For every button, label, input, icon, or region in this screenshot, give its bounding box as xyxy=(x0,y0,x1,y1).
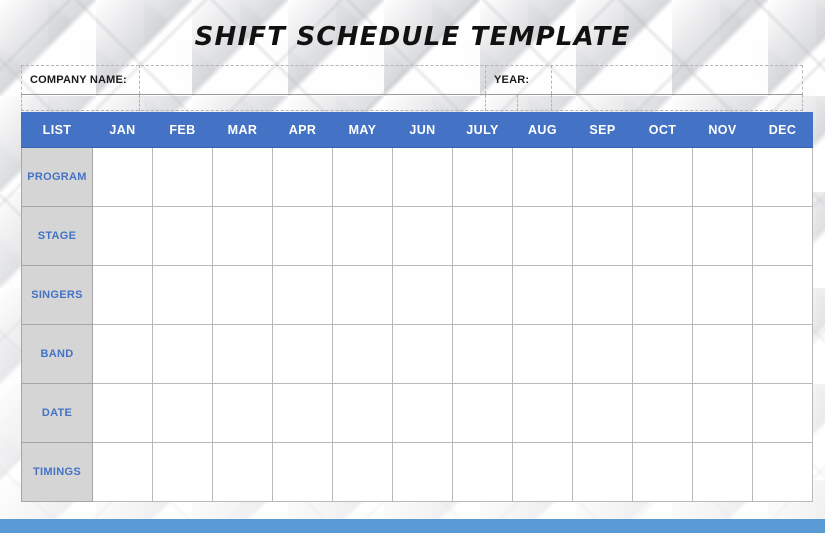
cell-program-aug[interactable] xyxy=(513,148,573,207)
cell-band-nov[interactable] xyxy=(693,325,753,384)
year-input[interactable] xyxy=(553,66,801,93)
cell-singers-july[interactable] xyxy=(453,266,513,325)
cell-timings-apr[interactable] xyxy=(273,443,333,502)
cell-stage-dec[interactable] xyxy=(753,207,813,266)
cell-stage-mar[interactable] xyxy=(213,207,273,266)
column-header-jun[interactable]: JUN xyxy=(393,113,453,148)
cell-band-apr[interactable] xyxy=(273,325,333,384)
column-header-may[interactable]: MAY xyxy=(333,113,393,148)
cell-singers-apr[interactable] xyxy=(273,266,333,325)
column-header-feb[interactable]: FEB xyxy=(153,113,213,148)
cell-band-sep[interactable] xyxy=(573,325,633,384)
cell-band-oct[interactable] xyxy=(633,325,693,384)
table-header: LIST JAN FEB MAR APR MAY JUN JULY AUG SE… xyxy=(22,113,813,148)
table-row: SINGERS xyxy=(22,266,813,325)
row-label-date: DATE xyxy=(22,384,93,443)
cell-stage-nov[interactable] xyxy=(693,207,753,266)
cell-date-nov[interactable] xyxy=(693,384,753,443)
cell-stage-oct[interactable] xyxy=(633,207,693,266)
cell-stage-jan[interactable] xyxy=(93,207,153,266)
cell-program-oct[interactable] xyxy=(633,148,693,207)
cell-date-jan[interactable] xyxy=(93,384,153,443)
cell-date-sep[interactable] xyxy=(573,384,633,443)
cell-date-aug[interactable] xyxy=(513,384,573,443)
cell-band-aug[interactable] xyxy=(513,325,573,384)
cell-timings-jan[interactable] xyxy=(93,443,153,502)
table-row: STAGE xyxy=(22,207,813,266)
company-year-band: COMPANY NAME: YEAR: xyxy=(21,65,803,111)
table-row: BAND xyxy=(22,325,813,384)
year-label: YEAR: xyxy=(494,74,529,86)
column-header-oct[interactable]: OCT xyxy=(633,113,693,148)
column-header-list[interactable]: LIST xyxy=(22,113,93,148)
row-label-band: BAND xyxy=(22,325,93,384)
cell-singers-sep[interactable] xyxy=(573,266,633,325)
cell-stage-apr[interactable] xyxy=(273,207,333,266)
table-body: PROGRAM STAGE xyxy=(22,148,813,502)
column-header-sep[interactable]: SEP xyxy=(573,113,633,148)
cell-stage-jun[interactable] xyxy=(393,207,453,266)
cell-program-apr[interactable] xyxy=(273,148,333,207)
cell-program-feb[interactable] xyxy=(153,148,213,207)
bottom-accent-bar xyxy=(0,519,825,533)
cell-date-apr[interactable] xyxy=(273,384,333,443)
cell-timings-oct[interactable] xyxy=(633,443,693,502)
cell-stage-aug[interactable] xyxy=(513,207,573,266)
cell-program-dec[interactable] xyxy=(753,148,813,207)
cell-program-sep[interactable] xyxy=(573,148,633,207)
cell-singers-jan[interactable] xyxy=(93,266,153,325)
grid-divider-5 xyxy=(485,95,486,111)
cell-date-may[interactable] xyxy=(333,384,393,443)
cell-timings-july[interactable] xyxy=(453,443,513,502)
row-label-timings: TIMINGS xyxy=(22,443,93,502)
page-title: SHIFT SCHEDULE TEMPLATE xyxy=(0,22,825,52)
cell-date-mar[interactable] xyxy=(213,384,273,443)
cell-timings-may[interactable] xyxy=(333,443,393,502)
row-label-stage: STAGE xyxy=(22,207,93,266)
column-header-mar[interactable]: MAR xyxy=(213,113,273,148)
column-header-aug[interactable]: AUG xyxy=(513,113,573,148)
cell-band-july[interactable] xyxy=(453,325,513,384)
column-header-dec[interactable]: DEC xyxy=(753,113,813,148)
cell-stage-sep[interactable] xyxy=(573,207,633,266)
table-row: TIMINGS xyxy=(22,443,813,502)
company-name-input[interactable] xyxy=(141,66,483,93)
grid-divider-6 xyxy=(517,95,518,111)
company-name-label: COMPANY NAME: xyxy=(30,74,127,86)
cell-band-feb[interactable] xyxy=(153,325,213,384)
row-label-singers: SINGERS xyxy=(22,266,93,325)
cell-timings-mar[interactable] xyxy=(213,443,273,502)
cell-singers-nov[interactable] xyxy=(693,266,753,325)
cell-timings-aug[interactable] xyxy=(513,443,573,502)
grid-divider-7 xyxy=(551,95,552,111)
column-header-jan[interactable]: JAN xyxy=(93,113,153,148)
cell-singers-jun[interactable] xyxy=(393,266,453,325)
cell-timings-nov[interactable] xyxy=(693,443,753,502)
shift-schedule-table: LIST JAN FEB MAR APR MAY JUN JULY AUG SE… xyxy=(21,112,813,502)
cell-band-may[interactable] xyxy=(333,325,393,384)
cell-timings-jun[interactable] xyxy=(393,443,453,502)
column-header-apr[interactable]: APR xyxy=(273,113,333,148)
table-header-row: LIST JAN FEB MAR APR MAY JUN JULY AUG SE… xyxy=(22,113,813,148)
cell-date-dec[interactable] xyxy=(753,384,813,443)
cell-singers-aug[interactable] xyxy=(513,266,573,325)
cell-singers-may[interactable] xyxy=(333,266,393,325)
cell-date-feb[interactable] xyxy=(153,384,213,443)
cell-band-mar[interactable] xyxy=(213,325,273,384)
cell-singers-oct[interactable] xyxy=(633,266,693,325)
cell-band-dec[interactable] xyxy=(753,325,813,384)
cell-timings-dec[interactable] xyxy=(753,443,813,502)
grid-divider-3 xyxy=(551,65,552,94)
cell-singers-feb[interactable] xyxy=(153,266,213,325)
grid-divider-2 xyxy=(485,65,486,94)
cell-band-jun[interactable] xyxy=(393,325,453,384)
schedule-sheet: SHIFT SCHEDULE TEMPLATE COMPANY NAME: YE… xyxy=(0,0,825,533)
grid-divider-1 xyxy=(139,65,140,94)
column-header-nov[interactable]: NOV xyxy=(693,113,753,148)
cell-band-jan[interactable] xyxy=(93,325,153,384)
table-row: PROGRAM xyxy=(22,148,813,207)
cell-singers-dec[interactable] xyxy=(753,266,813,325)
cell-stage-feb[interactable] xyxy=(153,207,213,266)
cell-program-mar[interactable] xyxy=(213,148,273,207)
cell-timings-feb[interactable] xyxy=(153,443,213,502)
table-row: DATE xyxy=(22,384,813,443)
cell-program-nov[interactable] xyxy=(693,148,753,207)
cell-singers-mar[interactable] xyxy=(213,266,273,325)
column-header-july[interactable]: JULY xyxy=(453,113,513,148)
cell-stage-july[interactable] xyxy=(453,207,513,266)
grid-divider-4 xyxy=(139,95,140,111)
row-label-program: PROGRAM xyxy=(22,148,93,207)
cell-program-july[interactable] xyxy=(453,148,513,207)
cell-date-jun[interactable] xyxy=(393,384,453,443)
cell-date-july[interactable] xyxy=(453,384,513,443)
cell-date-oct[interactable] xyxy=(633,384,693,443)
cell-stage-may[interactable] xyxy=(333,207,393,266)
cell-program-jan[interactable] xyxy=(93,148,153,207)
cell-timings-sep[interactable] xyxy=(573,443,633,502)
cell-program-may[interactable] xyxy=(333,148,393,207)
cell-program-jun[interactable] xyxy=(393,148,453,207)
